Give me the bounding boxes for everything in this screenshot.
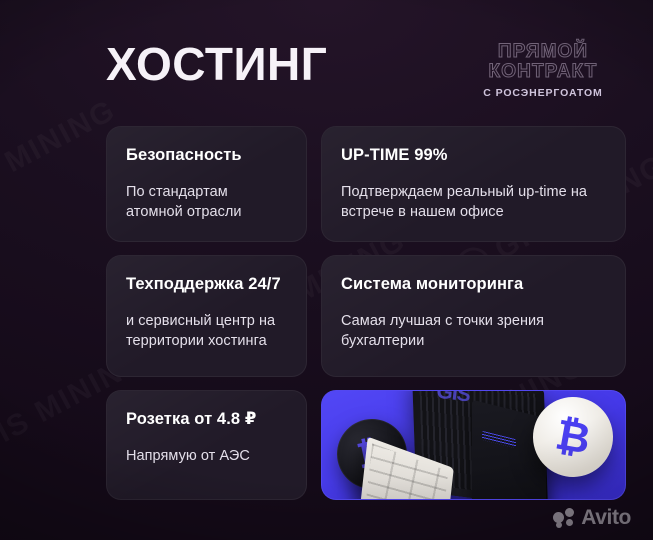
card-body: Самая лучшая с точки зрения бухгалтерии [341,311,606,351]
card-heading: Розетка от 4.8 ₽ [126,409,287,430]
banner-header: ХОСТИНГ ПРЯМОЙ КОНТРАКТ С РОСЭНЕРГОАТОМ [0,0,653,118]
feature-card-security: Безопасность По стандартам атомной отрас… [106,126,307,242]
feature-card-uptime: UP-TIME 99% Подтверждаем реальный up-tim… [321,126,626,242]
card-heading: Безопасность [126,145,287,166]
feature-row-2: Техподдержка 24/7 и сервисный центр на т… [106,255,626,377]
promo-banner: GIS MINING GIS MINING GIS MINING GIS MIN… [0,0,653,540]
feature-card-monitoring: Система мониторинга Самая лучшая с точки… [321,255,626,377]
card-heading: Система мониторинга [341,274,606,295]
feature-row-1: Безопасность По стандартам атомной отрас… [106,126,626,242]
card-body: и сервисный центр на территории хостинга [126,311,287,351]
avito-logo: Avito [553,506,631,530]
avito-wordmark: Avito [581,506,631,530]
card-body: По стандартам атомной отрасли [126,182,287,222]
miner-photo-card: ₿ GIS ₿ [321,390,626,500]
feature-grid: Безопасность По стандартам атомной отрас… [106,126,626,513]
avito-dots-icon [553,508,575,528]
card-heading: Техподдержка 24/7 [126,274,287,295]
card-heading: UP-TIME 99% [341,145,606,166]
contract-stamp: ПРЯМОЙ КОНТРАКТ С РОСЭНЕРГОАТОМ [459,42,627,99]
page-title: ХОСТИНГ [106,39,327,89]
feature-card-socket-price: Розетка от 4.8 ₽ Напрямую от АЭС [106,390,307,500]
coin-symbol: ₿ [552,413,593,460]
feature-card-support: Техподдержка 24/7 и сервисный центр на т… [106,255,307,377]
card-body: Напрямую от АЭС [126,446,287,466]
card-body: Подтверждаем реальный up-time на встрече… [341,182,606,222]
stamp-subtitle: С РОСЭНЕРГОАТОМ [459,87,627,99]
stamp-line-1: ПРЯМОЙ [459,42,627,62]
stamp-line-2: КОНТРАКТ [459,62,627,82]
feature-row-3: Розетка от 4.8 ₽ Напрямую от АЭС ₿ GIS ₿ [106,390,626,500]
